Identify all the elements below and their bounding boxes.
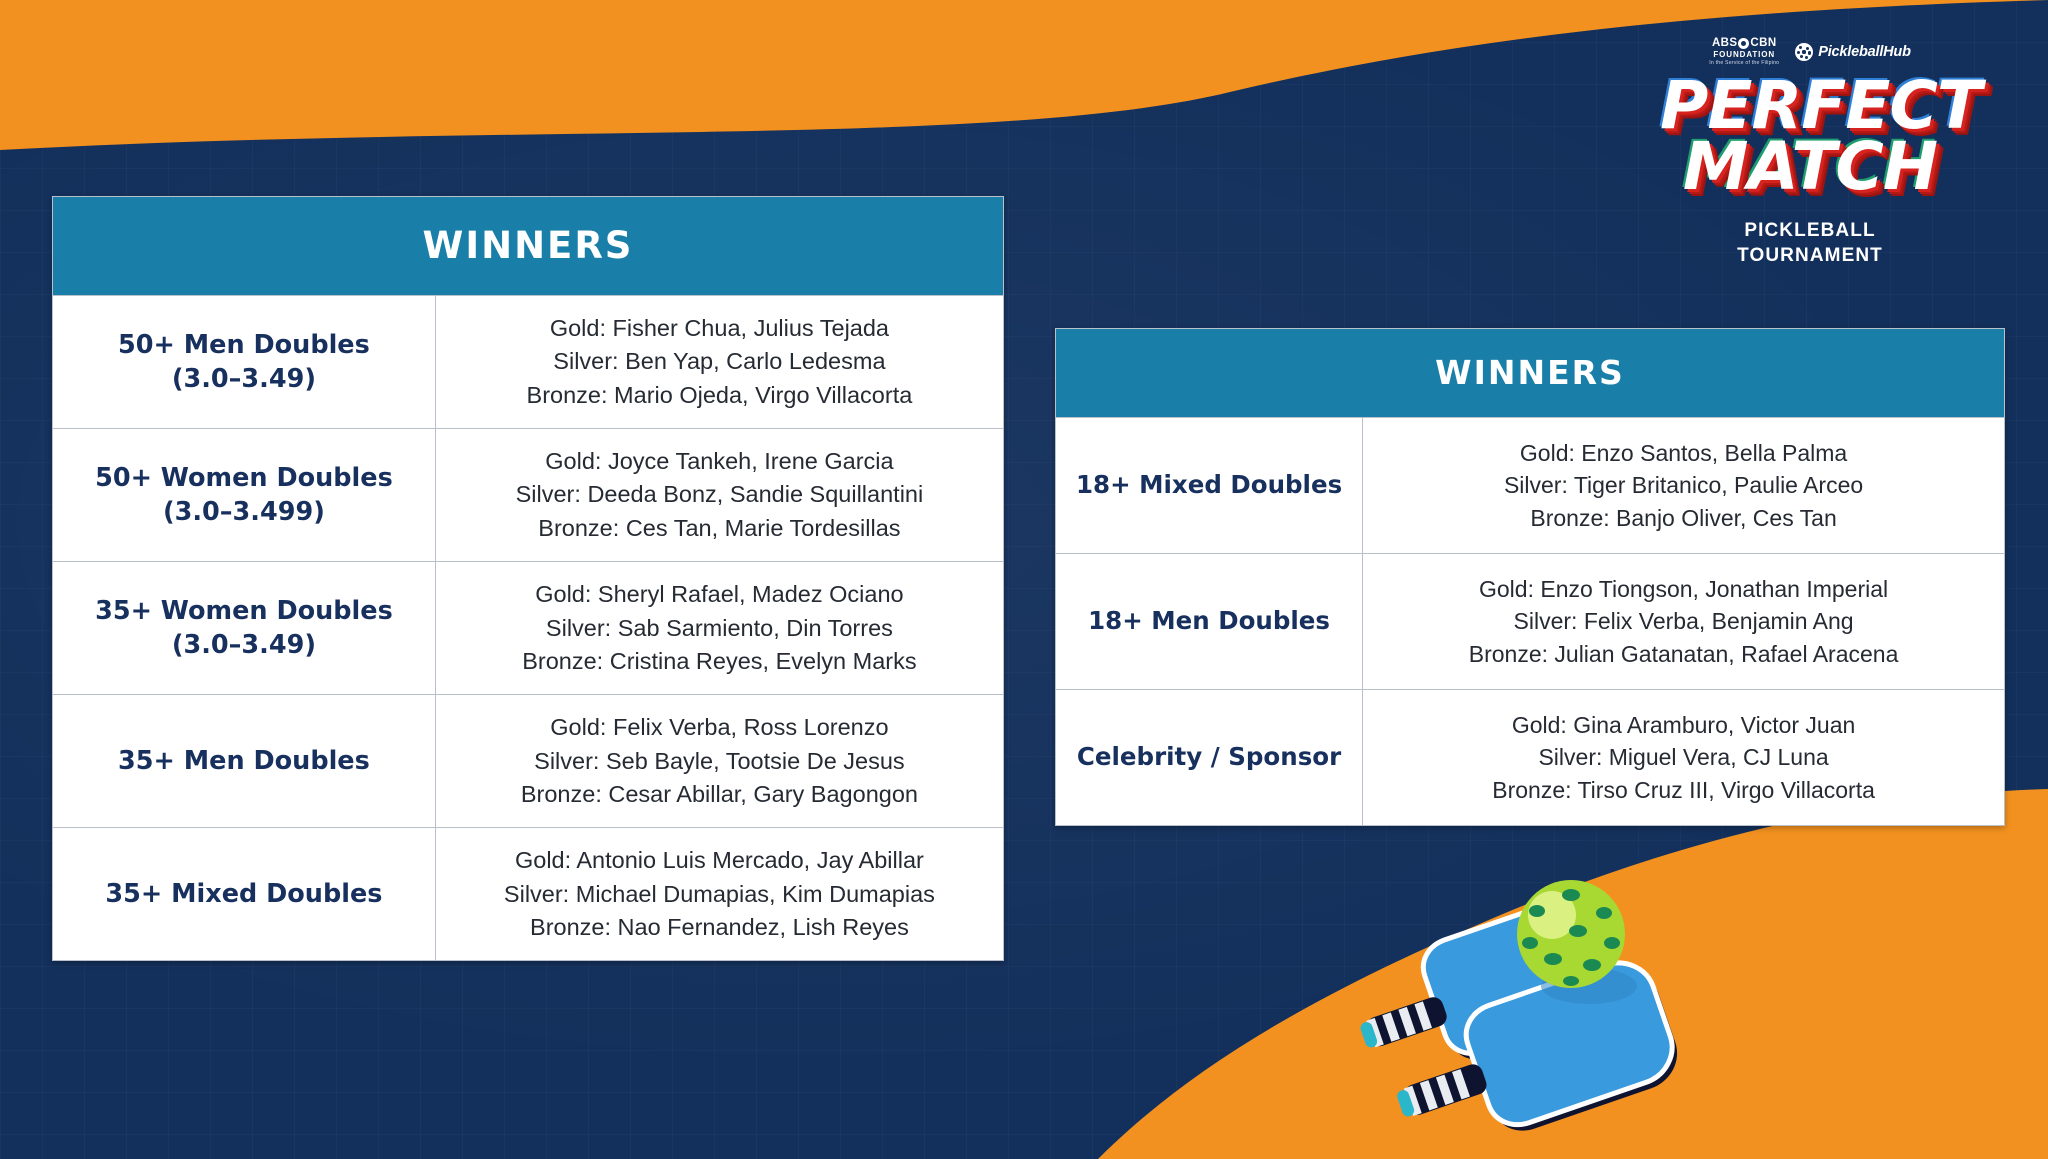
table-row: 35+ Mixed DoublesGold: Antonio Luis Merc… <box>53 827 1003 960</box>
pickleball-paddles-illustration <box>1230 839 1870 1159</box>
results-cell: Gold: Enzo Santos, Bella PalmaSilver: Ti… <box>1363 418 2004 553</box>
pickleballhub-logo: PickleballHub <box>1795 43 1911 61</box>
bronze-result-line: Bronze: Julian Gatanatan, Rafael Aracena <box>1469 638 1899 671</box>
winners-table-right-body: 18+ Mixed DoublesGold: Enzo Santos, Bell… <box>1056 417 2004 825</box>
gold-result-line: Gold: Gina Aramburo, Victor Juan <box>1512 709 1855 742</box>
silver-result-line: Silver: Felix Verba, Benjamin Ang <box>1514 605 1854 638</box>
abs-cbn-foundation-label: FOUNDATION <box>1709 51 1779 59</box>
winners-table-right-header: WINNERS <box>1056 329 2004 417</box>
category-line: 18+ Mixed Doubles <box>1076 469 1342 502</box>
results-cell: Gold: Sheryl Rafael, Madez OcianoSilver:… <box>436 562 1003 694</box>
event-logo-block: ABS CBN FOUNDATION In the Service of the… <box>1660 34 1960 268</box>
table-row: 18+ Mixed DoublesGold: Enzo Santos, Bell… <box>1056 417 2004 553</box>
abs-cbn-tagline: In the Service of the Filipino <box>1709 61 1779 66</box>
table-row: 35+ Men DoublesGold: Felix Verba, Ross L… <box>53 694 1003 827</box>
category-line: Celebrity / Sponsor <box>1077 741 1341 774</box>
gold-result-line: Gold: Sheryl Rafael, Madez Ociano <box>535 578 903 611</box>
subtitle-line-pickleball: PICKLEBALL <box>1660 218 1960 243</box>
silver-result-line: Silver: Ben Yap, Carlo Ledesma <box>553 345 885 378</box>
category-cell: 50+ Men Doubles(3.0–3.49) <box>53 296 436 428</box>
category-cell: 18+ Men Doubles <box>1056 554 1363 689</box>
category-line: 35+ Men Doubles <box>118 744 370 778</box>
bronze-result-line: Bronze: Tirso Cruz III, Virgo Villacorta <box>1492 774 1875 807</box>
table-row: 35+ Women Doubles(3.0–3.49)Gold: Sheryl … <box>53 561 1003 694</box>
gold-result-line: Gold: Fisher Chua, Julius Tejada <box>550 312 889 345</box>
bronze-result-line: Bronze: Cristina Reyes, Evelyn Marks <box>522 645 916 678</box>
winners-table-right: WINNERS 18+ Mixed DoublesGold: Enzo Sant… <box>1055 328 2005 826</box>
results-cell: Gold: Joyce Tankeh, Irene GarciaSilver: … <box>436 429 1003 561</box>
category-cell: 50+ Women Doubles(3.0–3.499) <box>53 429 436 561</box>
event-subtitle: PICKLEBALL TOURNAMENT <box>1660 218 1960 268</box>
perfect-match-wordmark: PERFECT MATCH <box>1660 78 1960 196</box>
abs-cbn-foundation-logo: ABS CBN FOUNDATION In the Service of the… <box>1709 38 1779 66</box>
results-cell: Gold: Fisher Chua, Julius TejadaSilver: … <box>436 296 1003 428</box>
winners-table-left-body: 50+ Men Doubles(3.0–3.49)Gold: Fisher Ch… <box>53 295 1003 960</box>
cbn-text: CBN <box>1750 38 1776 50</box>
results-cell: Gold: Felix Verba, Ross LorenzoSilver: S… <box>436 695 1003 827</box>
silver-result-line: Silver: Tiger Britanico, Paulie Arceo <box>1504 469 1863 502</box>
bronze-result-line: Bronze: Banjo Oliver, Ces Tan <box>1530 502 1836 535</box>
wordmark-line-perfect: PERFECT <box>1660 78 1960 135</box>
results-cell: Gold: Gina Aramburo, Victor JuanSilver: … <box>1363 690 2004 825</box>
category-line: (3.0–3.49) <box>95 628 393 662</box>
category-cell: 35+ Men Doubles <box>53 695 436 827</box>
winners-table-left-header: WINNERS <box>53 197 1003 295</box>
category-line: 50+ Women Doubles <box>95 461 393 495</box>
gold-result-line: Gold: Felix Verba, Ross Lorenzo <box>550 711 888 744</box>
paddle-front <box>1395 953 1687 1139</box>
category-cell: Celebrity / Sponsor <box>1056 690 1363 825</box>
category-line: (3.0–3.49) <box>118 362 370 396</box>
results-cell: Gold: Enzo Tiongson, Jonathan ImperialSi… <box>1363 554 2004 689</box>
abs-text: ABS <box>1712 38 1737 50</box>
gold-result-line: Gold: Enzo Santos, Bella Palma <box>1520 437 1847 470</box>
category-cell: 35+ Women Doubles(3.0–3.49) <box>53 562 436 694</box>
pickleballhub-wordmark: PickleballHub <box>1818 44 1911 60</box>
category-cell: 18+ Mixed Doubles <box>1056 418 1363 553</box>
results-cell: Gold: Antonio Luis Mercado, Jay AbillarS… <box>436 828 1003 960</box>
category-cell: 35+ Mixed Doubles <box>53 828 436 960</box>
category-line: 35+ Women Doubles <box>95 594 393 628</box>
pickleball-ball-icon <box>1795 43 1813 61</box>
table-row: Celebrity / SponsorGold: Gina Aramburo, … <box>1056 689 2004 825</box>
gold-result-line: Gold: Antonio Luis Mercado, Jay Abillar <box>515 844 924 877</box>
category-line: 18+ Men Doubles <box>1088 605 1330 638</box>
partner-logos-row: ABS CBN FOUNDATION In the Service of the… <box>1660 34 1960 70</box>
winners-table-left: WINNERS 50+ Men Doubles(3.0–3.49)Gold: F… <box>52 196 1004 961</box>
subtitle-line-tournament: TOURNAMENT <box>1660 243 1960 268</box>
abs-cbn-wordmark: ABS CBN <box>1709 38 1779 50</box>
category-line: 35+ Mixed Doubles <box>105 877 382 911</box>
abs-cbn-eye-icon <box>1738 38 1749 49</box>
bronze-result-line: Bronze: Cesar Abillar, Gary Bagongon <box>521 778 918 811</box>
silver-result-line: Silver: Michael Dumapias, Kim Dumapias <box>504 878 935 911</box>
poster-canvas: ABS CBN FOUNDATION In the Service of the… <box>0 0 2048 1159</box>
silver-result-line: Silver: Miguel Vera, CJ Luna <box>1538 741 1828 774</box>
silver-result-line: Silver: Deeda Bonz, Sandie Squillantini <box>516 478 924 511</box>
table-row: 50+ Women Doubles(3.0–3.499)Gold: Joyce … <box>53 428 1003 561</box>
silver-result-line: Silver: Seb Bayle, Tootsie De Jesus <box>534 745 905 778</box>
bronze-result-line: Bronze: Nao Fernandez, Lish Reyes <box>530 911 909 944</box>
bronze-result-line: Bronze: Mario Ojeda, Virgo Villacorta <box>527 379 913 412</box>
ball-shadow <box>1541 968 1637 1004</box>
bronze-result-line: Bronze: Ces Tan, Marie Tordesillas <box>538 512 900 545</box>
table-row: 18+ Men DoublesGold: Enzo Tiongson, Jona… <box>1056 553 2004 689</box>
category-line: 50+ Men Doubles <box>118 328 370 362</box>
table-row: 50+ Men Doubles(3.0–3.49)Gold: Fisher Ch… <box>53 295 1003 428</box>
paddle-back <box>1358 890 1632 1067</box>
silver-result-line: Silver: Sab Sarmiento, Din Torres <box>546 612 893 645</box>
gold-result-line: Gold: Enzo Tiongson, Jonathan Imperial <box>1479 573 1888 606</box>
gold-result-line: Gold: Joyce Tankeh, Irene Garcia <box>545 445 893 478</box>
wordmark-line-match: MATCH <box>1660 139 1960 196</box>
pickleball-ball <box>1517 880 1625 988</box>
category-line: (3.0–3.499) <box>95 495 393 529</box>
